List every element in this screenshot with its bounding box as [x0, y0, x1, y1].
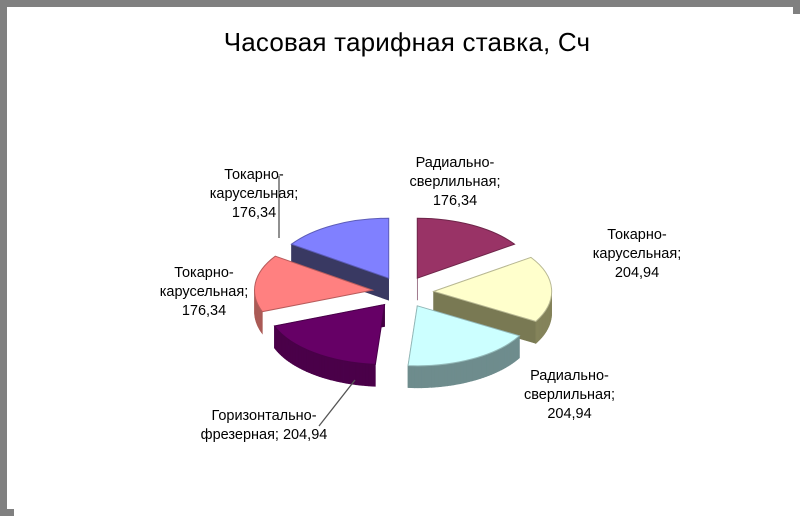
chart-plot-area: Часовая тарифная ставка, Сч Радиально- с… [14, 14, 800, 516]
chart-frame: Часовая тарифная ставка, Сч Радиально- с… [0, 0, 800, 516]
data-label-tokarno-karuselnaya-204: Токарно- карусельная; 204,94 [552, 226, 722, 283]
data-label-tokarno-karuselnaya-176-topleft: Токарно- карусельная; 176,34 [174, 166, 334, 223]
data-label-tokarno-karuselnaya-176-left: Токарно- карусельная; 176,34 [124, 264, 284, 321]
data-label-radialno-sverlilnaya-204: Радиально- сверлильная; 204,94 [482, 367, 657, 424]
data-label-radialno-sverlilnaya-176: Радиально- сверлильная; 176,34 [380, 154, 530, 211]
data-label-gorizontalno-frezernaya: Горизонтально- фрезерная; 204,94 [164, 407, 364, 445]
